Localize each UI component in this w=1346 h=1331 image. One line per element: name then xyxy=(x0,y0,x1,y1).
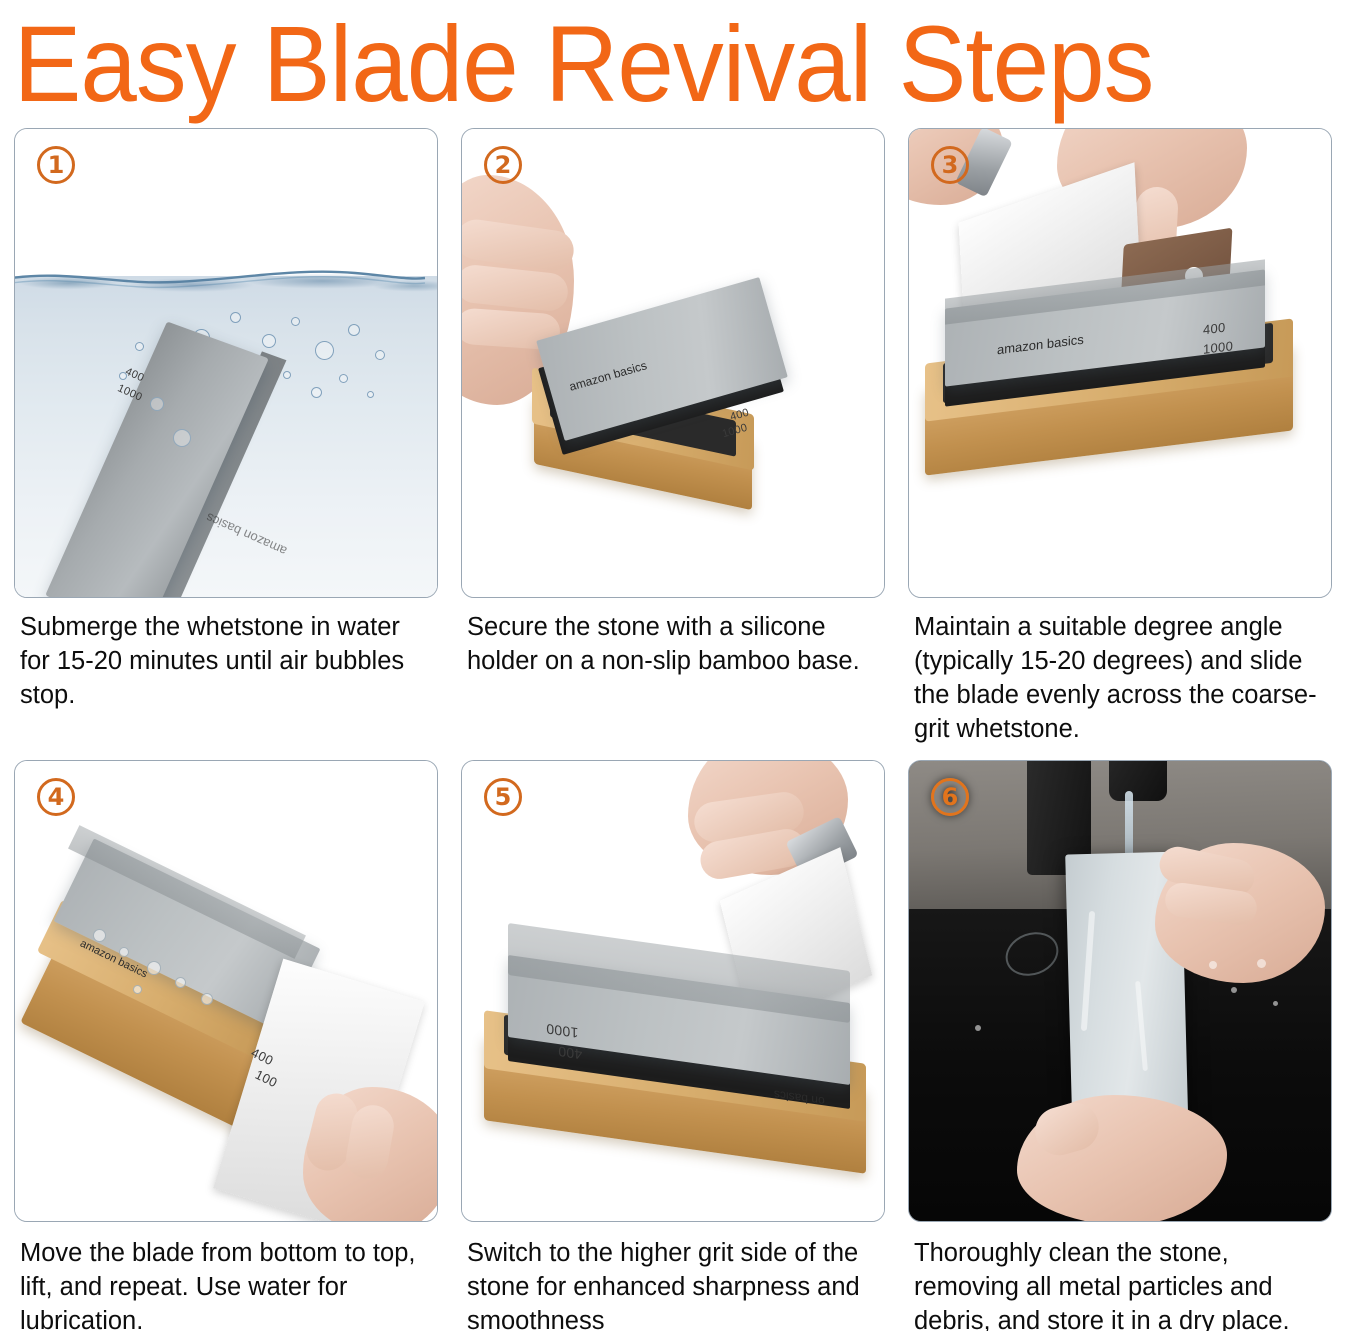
water-splash xyxy=(1273,1001,1278,1006)
illustration-fine-grit-side: 1000 400 on basics xyxy=(462,761,884,1221)
steps-grid: 1 xyxy=(8,128,1338,1331)
step-card-1: 1 xyxy=(14,128,438,746)
water-splash xyxy=(1231,987,1237,993)
step-badge-1: 1 xyxy=(37,146,75,184)
step-caption-3: Maintain a suitable degree angle (typica… xyxy=(908,598,1332,746)
step-badge-2: 2 xyxy=(484,146,522,184)
illustration-blade-stroke: amazon basics 400 100 xyxy=(15,761,437,1221)
step-image-card-2: 2 amazon basics 400 1000 xyxy=(461,128,885,598)
bubble xyxy=(375,350,385,360)
step-caption-1: Submerge the whetstone in water for 15-2… xyxy=(14,598,438,712)
step-caption-2: Secure the stone with a silicone holder … xyxy=(461,598,885,678)
step-image-card-4: 4 amazon ba xyxy=(14,760,438,1222)
illustration-sharpening-blade: amazon basics 400 1000 xyxy=(909,129,1331,597)
bubble xyxy=(339,374,348,383)
water-droplet xyxy=(201,993,213,1005)
step-badge-6: 6 xyxy=(931,778,969,816)
water-droplet xyxy=(147,961,161,975)
step-card-6: 6 Thoroughly clean the stone, removing a… xyxy=(908,760,1332,1331)
surface-foam xyxy=(14,257,438,301)
step-image-card-3: 3 amazon ba xyxy=(908,128,1332,598)
illustration-rinsing-stone: 6 xyxy=(909,761,1331,1221)
step-caption-6: Thoroughly clean the stone, removing all… xyxy=(908,1222,1332,1331)
step-card-3: 3 amazon ba xyxy=(908,128,1332,746)
bubble xyxy=(348,324,360,336)
step-badge-3: 3 xyxy=(931,146,969,184)
faucet-spout xyxy=(1109,760,1167,801)
water-splash xyxy=(1257,959,1266,968)
water-splash xyxy=(975,1025,981,1031)
step-caption-5: Switch to the higher grit side of the st… xyxy=(461,1222,885,1331)
bubble xyxy=(291,317,300,326)
stone-grit-coarse: 400 xyxy=(1203,320,1226,338)
step-badge-4: 4 xyxy=(37,778,75,816)
water-droplet xyxy=(175,977,186,988)
stone-grit-coarse: 400 xyxy=(558,1043,582,1062)
step-caption-4: Move the blade from bottom to top, lift,… xyxy=(14,1222,438,1331)
infographic-page: Easy Blade Revival Steps 1 xyxy=(0,0,1346,1331)
step-card-2: 2 amazon basics 400 1000 Secure the s xyxy=(461,128,885,746)
illustration-submerged-stone: 400 1000 amazon basics xyxy=(15,129,437,597)
bubble xyxy=(315,341,334,360)
step-image-card-6: 6 xyxy=(908,760,1332,1222)
step-badge-5: 5 xyxy=(484,778,522,816)
step-card-5: 5 1000 400 on basics xyxy=(461,760,885,1331)
water-splash xyxy=(1209,961,1217,969)
bubble xyxy=(135,342,144,351)
step-image-card-5: 5 1000 400 on basics xyxy=(461,760,885,1222)
step-card-4: 4 amazon ba xyxy=(14,760,438,1331)
water-droplet xyxy=(133,985,142,994)
illustration-stone-on-base: amazon basics 400 1000 xyxy=(462,129,884,597)
bubble xyxy=(283,371,291,379)
bubble xyxy=(311,387,322,398)
water-droplet xyxy=(93,929,106,942)
bubble xyxy=(150,397,164,411)
bubble xyxy=(262,334,276,348)
page-title: Easy Blade Revival Steps xyxy=(8,0,1258,128)
step-image-card-1: 1 xyxy=(14,128,438,598)
bubble xyxy=(230,312,241,323)
bubble xyxy=(367,391,374,398)
bubble xyxy=(173,429,191,447)
